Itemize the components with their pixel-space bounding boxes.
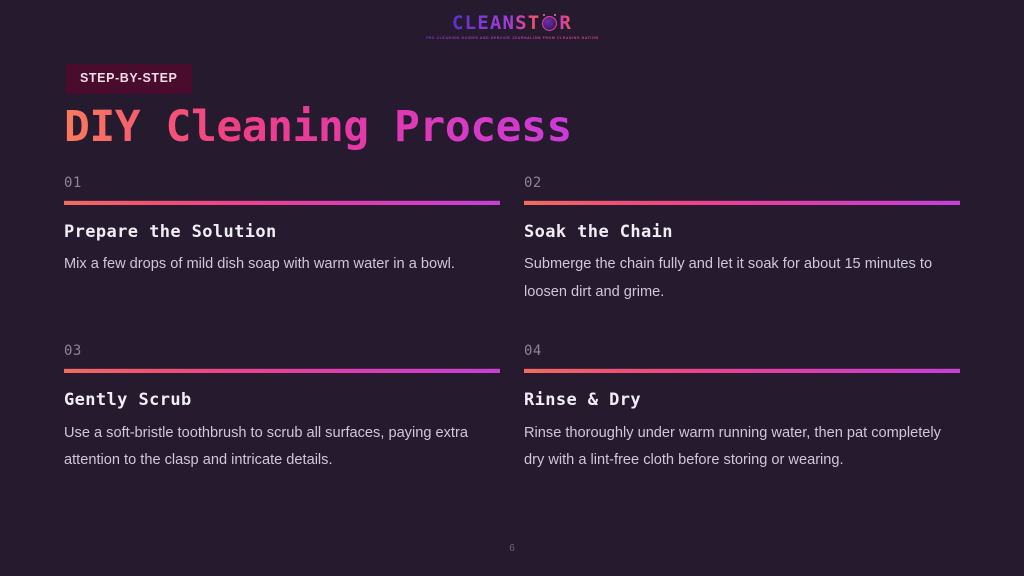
step-card-01: 01 Prepare the Solution Mix a few drops …	[64, 176, 500, 306]
brand-name-clean: CLEAN	[452, 14, 515, 33]
step-description: Mix a few drops of mild dish soap with w…	[64, 251, 494, 278]
water-droplet-orb-icon	[541, 15, 558, 32]
step-title: Rinse & Dry	[524, 390, 960, 410]
slide: CLEAN ST R Pro Cleaning Guides And Servi…	[0, 0, 1024, 576]
step-number: 04	[524, 344, 960, 368]
step-number: 02	[524, 176, 960, 200]
status-badge: STEP-BY-STEP	[66, 64, 192, 94]
brand-name-r: R	[559, 14, 572, 33]
accent-bar	[524, 201, 960, 205]
brand-tagline: Pro Cleaning Guides And Service Journali…	[426, 36, 599, 40]
accent-bar	[64, 201, 500, 205]
step-card-02: 02 Soak the Chain Submerge the chain ful…	[524, 176, 960, 306]
step-description: Submerge the chain fully and let it soak…	[524, 251, 954, 306]
step-card-03: 03 Gently Scrub Use a soft-bristle tooth…	[64, 344, 500, 474]
step-description: Use a soft-bristle toothbrush to scrub a…	[64, 420, 494, 475]
accent-bar	[64, 369, 500, 373]
step-title: Prepare the Solution	[64, 222, 500, 242]
brand-name-st: ST	[515, 14, 540, 33]
step-number: 01	[64, 176, 500, 200]
step-description: Rinse thoroughly under warm running wate…	[524, 420, 954, 475]
step-title: Gently Scrub	[64, 390, 500, 410]
page-title: DIY Cleaning Process	[64, 103, 572, 152]
brand-logo[interactable]: CLEAN ST R Pro Cleaning Guides And Servi…	[0, 14, 1024, 40]
brand-wordmark: CLEAN ST R	[452, 14, 572, 33]
step-number: 03	[64, 344, 500, 368]
accent-bar	[524, 369, 960, 373]
page-number: 6	[0, 544, 1024, 554]
step-title: Soak the Chain	[524, 222, 960, 242]
steps-grid: 01 Prepare the Solution Mix a few drops …	[64, 176, 960, 474]
step-card-04: 04 Rinse & Dry Rinse thoroughly under wa…	[524, 344, 960, 474]
